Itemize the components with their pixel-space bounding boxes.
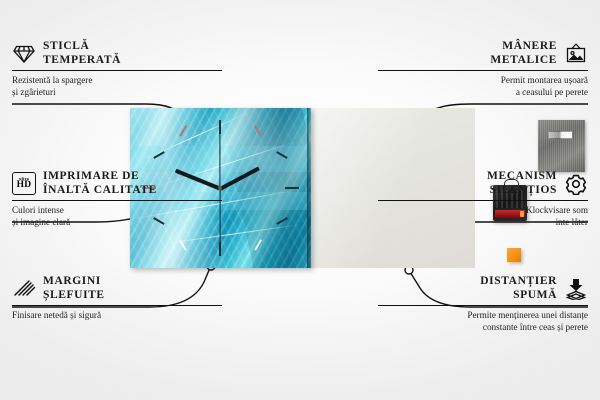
- callout-title: IMPRIMARE DE ÎNALTĂ CALITATE: [43, 170, 157, 197]
- diamond-icon: [12, 43, 36, 65]
- hanger-keyhole-slot: [548, 131, 573, 139]
- tick-10: [153, 151, 164, 158]
- callout-title: MARGINI ȘLEFUITE: [43, 275, 105, 302]
- callout-subtitle: Klockvisare som inte låter: [378, 205, 588, 228]
- tick-11: [179, 125, 186, 136]
- callout-subtitle: Culori intense și imagine clară: [12, 205, 222, 228]
- tick-2: [276, 151, 287, 158]
- ultra-hd-icon: ultra HD: [12, 173, 36, 195]
- callout-rule: [378, 200, 588, 201]
- callout-title: MÂNERE METALICE: [490, 40, 557, 67]
- callout-subtitle: Permite menținerea unei distanțe constan…: [378, 310, 588, 333]
- gear-icon: [564, 173, 588, 195]
- orange-foam-spacer: [507, 248, 521, 262]
- wall-mount-picture-icon: [564, 43, 588, 65]
- tick-7: [179, 239, 186, 250]
- metal-hanger-plate: [538, 120, 585, 172]
- callout-subtitle: Rezistentă la spargere și zgârieturi: [12, 75, 222, 98]
- callout-handles[interactable]: MÂNERE METALICE Permit montarea ușoară a…: [378, 40, 588, 98]
- callout-header: MECANISM SILENȚIOS: [378, 170, 588, 197]
- callout-header: MÂNERE METALICE: [378, 40, 588, 67]
- callout-title: STICLĂ TEMPERATĂ: [43, 40, 121, 67]
- callout-subtitle: Permit montarea ușoară a ceasului pe per…: [378, 75, 588, 98]
- callout-header: STICLĂ TEMPERATĂ: [12, 40, 222, 67]
- callout-rule: [12, 200, 222, 201]
- callout-print[interactable]: ultra HD IMPRIMARE DE ÎNALTĂ CALITATE Cu…: [12, 170, 222, 228]
- foam-spacer-arrow-icon: [564, 278, 588, 300]
- callout-rule: [378, 70, 588, 71]
- tick-4: [276, 217, 287, 224]
- polished-edges-icon: [12, 278, 36, 300]
- infographic-stage: STICLĂ TEMPERATĂ Rezistentă la spargere …: [0, 0, 600, 400]
- callout-subtitle: Finisare netedă și sigură: [12, 310, 222, 322]
- callout-header: ultra HD IMPRIMARE DE ÎNALTĂ CALITATE: [12, 170, 222, 197]
- tick-3: [285, 187, 299, 189]
- callout-rule: [12, 305, 222, 306]
- callout-header: DISTANȚIER SPUMĂ: [378, 275, 588, 302]
- callout-header: MARGINI ȘLEFUITE: [12, 275, 222, 302]
- tick-5: [254, 239, 261, 250]
- callout-title: DISTANȚIER SPUMĂ: [480, 275, 557, 302]
- callout-mechanism[interactable]: MECANISM SILENȚIOS Klockvisare som inte …: [378, 170, 588, 228]
- callout-title: MECANISM SILENȚIOS: [487, 170, 557, 197]
- callout-rule: [378, 305, 588, 306]
- callout-spacer[interactable]: DISTANȚIER SPUMĂ Permite menținerea unei…: [378, 275, 588, 333]
- hour-hand: [219, 167, 260, 191]
- callout-glass[interactable]: STICLĂ TEMPERATĂ Rezistentă la spargere …: [12, 40, 222, 98]
- callout-edges[interactable]: MARGINI ȘLEFUITE Finisare netedă și sigu…: [12, 275, 222, 322]
- callout-rule: [12, 70, 222, 71]
- tick-1: [254, 125, 261, 136]
